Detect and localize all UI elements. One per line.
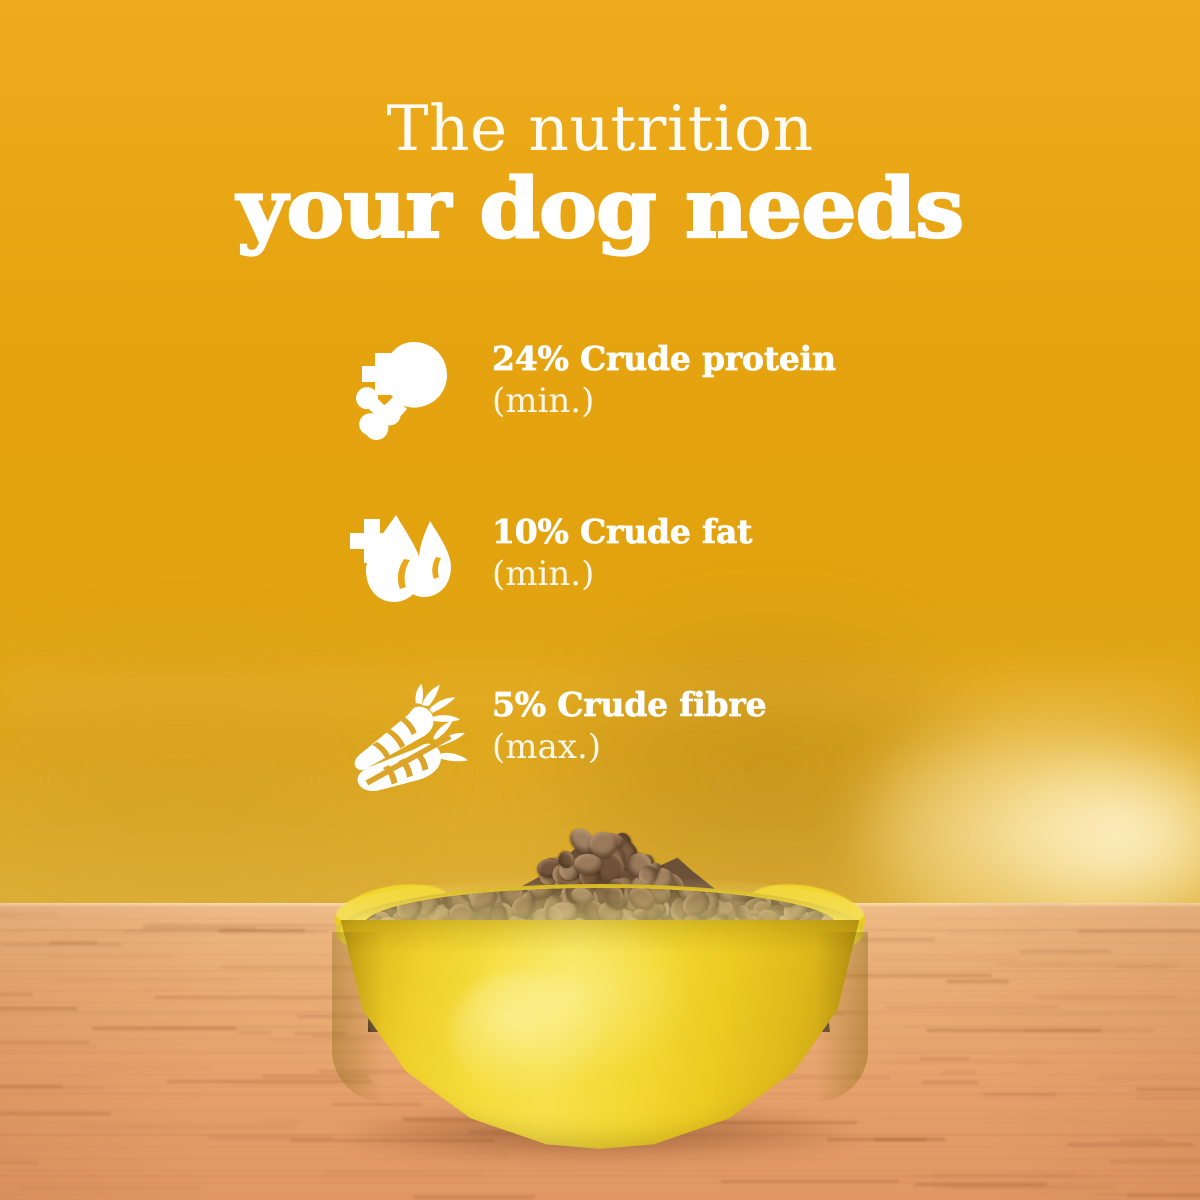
fact-qualifier-fat: (min.)	[492, 553, 752, 595]
fact-text-fat: 10% Crude fat (min.)	[468, 503, 752, 595]
promo-banner: The nutrition your dog needs	[0, 0, 1200, 1200]
nutrition-facts-list: 24% Crude protein (min.)	[348, 330, 968, 796]
fact-main-fibre: 5% Crude fibre	[492, 686, 766, 724]
fact-row-fibre: 5% Crude fibre (max.)	[348, 676, 968, 796]
carrots-icon	[348, 676, 468, 788]
fact-text-protein: 24% Crude protein (min.)	[468, 330, 836, 422]
drumstick-plus-icon	[348, 330, 468, 442]
fact-qualifier-fibre: (max.)	[492, 726, 766, 768]
fact-qualifier-protein: (min.)	[492, 380, 836, 422]
fact-row-fat: 10% Crude fat (min.)	[348, 503, 968, 623]
dog-food-bowl	[330, 822, 870, 1162]
droplet-plus-icon	[348, 503, 468, 615]
fact-row-protein: 24% Crude protein (min.)	[348, 330, 968, 450]
fact-main-protein: 24% Crude protein	[492, 340, 836, 378]
fact-main-fat: 10% Crude fat	[492, 513, 752, 551]
fact-text-fibre: 5% Crude fibre (max.)	[468, 676, 766, 768]
